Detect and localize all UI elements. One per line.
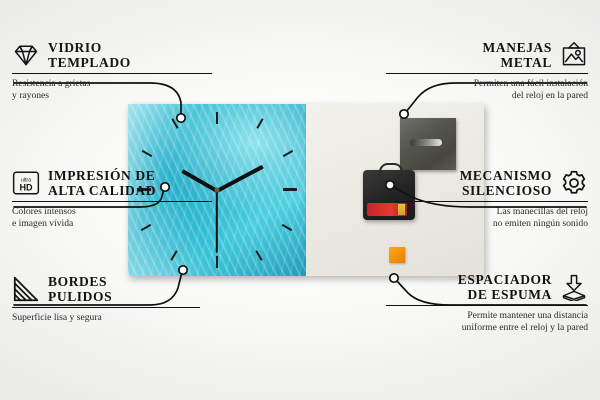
feature-divider: [394, 201, 588, 202]
clock-tick: [256, 118, 263, 129]
clock-tick: [142, 150, 153, 157]
foam-spacer-pad: [389, 247, 405, 263]
feature-desc-line1: Las manecillas del reloj: [358, 206, 588, 217]
feature-header: BORDES PULIDOS: [12, 274, 242, 304]
clock-tick: [255, 250, 262, 261]
feature-title: MANEJAS METAL: [483, 40, 552, 70]
clock-tick: [171, 118, 178, 129]
clock-tick: [283, 188, 297, 191]
infographic-canvas: VIDRIO TEMPLADO Resistencia a grietas y …: [0, 0, 600, 400]
clock-tick: [170, 250, 177, 261]
feature-header: MECANISMO SILENCIOSO: [358, 168, 588, 198]
feature-header: ultra HD IMPRESIÓN DE ALTA CALIDAD: [12, 168, 242, 198]
feature-desc-line1: Permiten una fácil instalación: [358, 78, 588, 89]
clock-center-pivot: [215, 188, 220, 193]
feature-desc-line2: del reloj en la pared: [358, 90, 588, 101]
feature-desc-line2: y rayones: [12, 90, 242, 101]
picture-frame-hanger-icon: [560, 41, 588, 69]
feature-desc-line1: Colores intensos: [12, 206, 242, 217]
feature-impresion-alta-calidad: ultra HD IMPRESIÓN DE ALTA CALIDAD Color…: [12, 168, 242, 229]
clock-tick: [216, 256, 218, 268]
feature-divider: [12, 307, 200, 308]
feature-title: MECANISMO SILENCIOSO: [460, 168, 552, 198]
feature-espaciador-de-espuma: ESPACIADOR DE ESPUMA Permite mantener un…: [358, 272, 588, 333]
feature-title: VIDRIO TEMPLADO: [48, 40, 131, 70]
diamond-icon: [12, 41, 40, 69]
feature-desc-line2: e imagen vívida: [12, 218, 242, 229]
polished-edge-icon: [12, 275, 40, 303]
feature-bordes-pulidos: BORDES PULIDOS Superficie lisa y segura: [12, 274, 242, 324]
feature-title: ESPACIADOR DE ESPUMA: [458, 272, 552, 302]
feature-vidrio-templado: VIDRIO TEMPLADO Resistencia a grietas y …: [12, 40, 242, 101]
feature-desc-line2: no emiten ningún sonido: [358, 218, 588, 229]
feature-title: BORDES PULIDOS: [48, 274, 112, 304]
metal-hanger-plate: [400, 118, 456, 170]
foam-spacer-icon: [560, 273, 588, 301]
feature-header: VIDRIO TEMPLADO: [12, 40, 242, 70]
feature-header: ESPACIADOR DE ESPUMA: [358, 272, 588, 302]
feature-divider: [386, 305, 588, 306]
feature-title: IMPRESIÓN DE ALTA CALIDAD: [48, 168, 156, 198]
gear-icon: [560, 169, 588, 197]
feature-desc-line1: Resistencia a grietas: [12, 78, 242, 89]
feature-desc-line1: Superficie lisa y segura: [12, 312, 242, 323]
feature-desc-line2: uniforme entre el reloj y la pared: [358, 322, 588, 333]
feature-divider: [386, 73, 588, 74]
feature-manejas-metal: MANEJAS METAL Permiten una fácil instala…: [358, 40, 588, 101]
feature-divider: [12, 73, 212, 74]
feature-mecanismo-silencioso: MECANISMO SILENCIOSO Las manecillas del …: [358, 168, 588, 229]
clock-tick: [282, 224, 293, 231]
feature-header: MANEJAS METAL: [358, 40, 588, 70]
svg-text:HD: HD: [19, 182, 33, 192]
hanger-slot: [410, 139, 442, 146]
clock-tick: [216, 112, 218, 124]
feature-desc-line1: Permite mantener una distancia: [358, 310, 588, 321]
ultra-hd-icon: ultra HD: [12, 169, 40, 197]
clock-tick: [283, 150, 294, 157]
feature-divider: [12, 201, 212, 202]
